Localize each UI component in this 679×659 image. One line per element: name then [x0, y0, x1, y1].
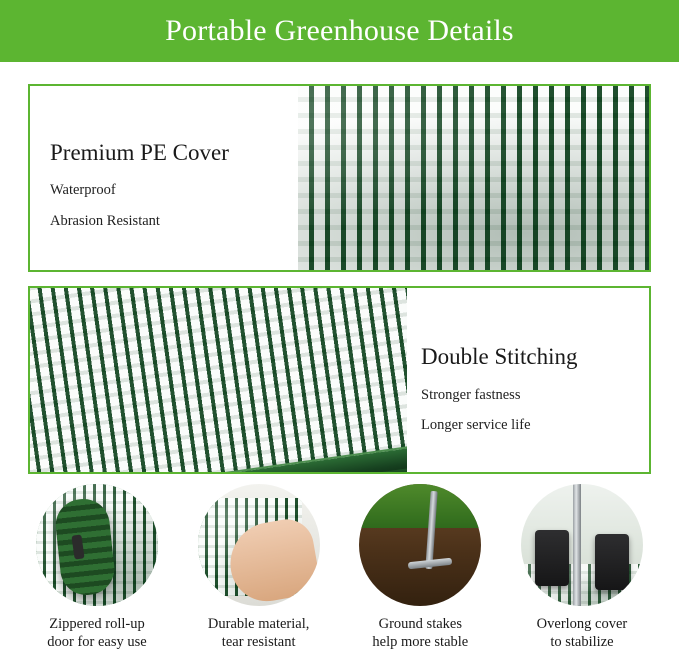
- feature-icon-row: Zippered roll-up door for easy use Durab…: [0, 484, 679, 659]
- feature-caption-overlong-cover: Overlong cover to stabilize: [537, 615, 628, 651]
- feature-panel-premium-pe-cover: Premium PE Cover Waterproof Abrasion Res…: [28, 84, 651, 272]
- pe-cover-text-block: Premium PE Cover Waterproof Abrasion Res…: [30, 86, 298, 270]
- feature-image-overlong-cover: [521, 484, 643, 606]
- page-title: Portable Greenhouse Details: [165, 14, 514, 48]
- panel-bullet-stronger-fastness: Stronger fastness: [421, 387, 520, 404]
- caption-line-1: Ground stakes: [372, 615, 468, 633]
- double-stitching-text-block: Double Stitching Stronger fastness Longe…: [407, 288, 649, 472]
- frame-pole-icon: [573, 484, 581, 606]
- panel-bullet-waterproof: Waterproof: [50, 182, 116, 199]
- page-header: Portable Greenhouse Details: [0, 0, 679, 62]
- caption-line-2: door for easy use: [47, 633, 146, 651]
- feature-caption-ground-stakes: Ground stakes help more stable: [372, 615, 468, 651]
- feature-image-ground-stakes: [359, 484, 481, 606]
- feature-zippered-roll-up-door: Zippered roll-up door for easy use: [22, 484, 172, 659]
- feature-ground-stakes: Ground stakes help more stable: [345, 484, 495, 659]
- caption-line-2: tear resistant: [208, 633, 309, 651]
- feature-caption-durable-material: Durable material, tear resistant: [208, 615, 309, 651]
- panel-title-premium-pe-cover: Premium PE Cover: [50, 140, 229, 166]
- feature-overlong-cover: Overlong cover to stabilize: [507, 484, 657, 659]
- feature-durable-material: Durable material, tear resistant: [184, 484, 334, 659]
- caption-line-1: Overlong cover: [537, 615, 628, 633]
- caption-line-1: Zippered roll-up: [47, 615, 146, 633]
- feature-image-durable-material: [198, 484, 320, 606]
- grass-background: [359, 484, 481, 528]
- panel-title-double-stitching: Double Stitching: [421, 344, 578, 370]
- feature-image-zippered-roll-up-door: [36, 484, 158, 606]
- panel-bullet-longer-service-life: Longer service life: [421, 417, 531, 434]
- caption-line-2: to stabilize: [537, 633, 628, 651]
- weight-bag-icon: [535, 530, 569, 586]
- feature-caption-zippered-roll-up-door: Zippered roll-up door for easy use: [47, 615, 146, 651]
- caption-line-2: help more stable: [372, 633, 468, 651]
- caption-line-1: Durable material,: [208, 615, 309, 633]
- panel-bullet-abrasion-resistant: Abrasion Resistant: [50, 213, 160, 230]
- weight-bag-icon: [595, 534, 629, 590]
- feature-panel-double-stitching: Double Stitching Stronger fastness Longe…: [28, 286, 651, 474]
